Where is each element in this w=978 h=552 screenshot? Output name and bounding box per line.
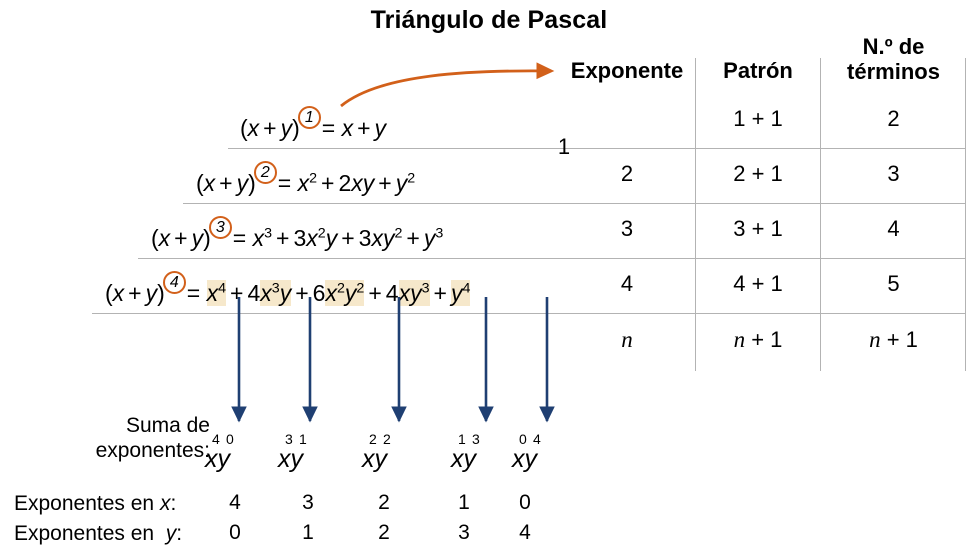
monomial-5-x-exponent: 0 bbox=[519, 431, 527, 447]
monomial-2-y-exponent: 1 bbox=[299, 431, 307, 447]
row-divider-2 bbox=[183, 203, 965, 204]
sum-label-line1: Suma de bbox=[20, 413, 210, 438]
monomial-term-3: 22xy bbox=[362, 445, 387, 474]
cell-terms-row2: 3 bbox=[822, 161, 965, 187]
x-exponent-value-3: 2 bbox=[364, 491, 404, 515]
monomial-4-y-exponent: 3 bbox=[472, 431, 480, 447]
cell-terms-row1: 2 bbox=[822, 106, 965, 132]
row-divider-3 bbox=[138, 258, 965, 259]
monomial-1-y-exponent: 0 bbox=[226, 431, 234, 447]
column-header-exponente: Exponente bbox=[561, 58, 693, 83]
x-exponent-value-5: 0 bbox=[505, 491, 545, 515]
sum-of-exponents-label: Suma de exponentes: bbox=[20, 413, 210, 463]
row-divider-4 bbox=[92, 313, 965, 314]
term-xy3: xy3 bbox=[399, 280, 430, 306]
term-y4: y4 bbox=[451, 280, 470, 306]
x-exponent-value-1: 4 bbox=[215, 491, 255, 515]
column-header-patron: Patrón bbox=[697, 58, 819, 83]
y-exponent-value-1: 0 bbox=[215, 521, 255, 545]
monomial-term-2: 31xy bbox=[278, 445, 303, 474]
exponents-in-x-label: Exponentes en x: bbox=[14, 491, 176, 516]
monomial-1-x-exponent: 4 bbox=[212, 431, 220, 447]
equation-power-2: (x+y)2= x2+2xy+y2 bbox=[196, 161, 415, 196]
circled-exponent-3: 3 bbox=[209, 216, 232, 239]
exponent-callout-arrow bbox=[341, 71, 551, 106]
cell-terms-row3: 4 bbox=[822, 216, 965, 242]
exponents-in-y-label: Exponentes en y: bbox=[14, 521, 182, 546]
column-header-terminos-line1: N.º de bbox=[822, 34, 965, 59]
cell-pattern-row3: 3 + 1 bbox=[697, 216, 819, 242]
y-exponent-value-4: 3 bbox=[444, 521, 484, 545]
cell-pattern-row4: 4 + 1 bbox=[697, 271, 819, 297]
column-divider-exponent-pattern bbox=[695, 58, 696, 371]
cell-terms-row4: 5 bbox=[822, 271, 965, 297]
pascal-triangle-figure: Triángulo de Pascal Exponente Patrón N.º… bbox=[0, 0, 978, 552]
circled-exponent-1: 1 bbox=[298, 106, 321, 129]
cell-pattern-row2: 2 + 1 bbox=[697, 161, 819, 187]
y-exponent-value-3: 2 bbox=[364, 521, 404, 545]
cell-exponent-row4: 4 bbox=[561, 271, 693, 297]
cell-exponent-row2: 2 bbox=[561, 161, 693, 187]
monomial-3-x-exponent: 2 bbox=[369, 431, 377, 447]
cell-terms-row5: n + 1 bbox=[822, 327, 965, 353]
circled-exponent-2: 2 bbox=[254, 161, 277, 184]
y-exponent-value-5: 4 bbox=[505, 521, 545, 545]
equation-power-3: (x+y)3= x3+3x2y+3xy2+y3 bbox=[151, 216, 443, 251]
column-divider-pattern-terms bbox=[820, 58, 821, 371]
column-header-terminos-line2: términos bbox=[822, 59, 965, 84]
monomial-5-y-exponent: 4 bbox=[533, 431, 541, 447]
cell-exponent-row3: 3 bbox=[561, 216, 693, 242]
term-x3y: x3y bbox=[260, 280, 291, 306]
x-exponent-value-2: 3 bbox=[288, 491, 328, 515]
monomial-3-y-exponent: 2 bbox=[383, 431, 391, 447]
monomial-term-5: 04xy bbox=[512, 445, 537, 474]
column-header-numero-terminos: N.º de términos bbox=[822, 34, 965, 84]
circled-exponent-4: 4 bbox=[163, 271, 186, 294]
page-title: Triángulo de Pascal bbox=[0, 6, 978, 35]
equation-power-4: (x+y)4= x4+4x3y+6x2y2+4xy3+y4 bbox=[105, 271, 470, 306]
term-x2y2: x2y2 bbox=[325, 280, 364, 306]
sum-label-line2: exponentes: bbox=[20, 438, 210, 463]
term-x4: x4 bbox=[207, 280, 226, 306]
table-right-border bbox=[965, 58, 966, 371]
y-exponent-value-2: 1 bbox=[288, 521, 328, 545]
monomial-term-4: 13xy bbox=[451, 445, 476, 474]
monomial-4-x-exponent: 1 bbox=[458, 431, 466, 447]
cell-pattern-row5: n + 1 bbox=[697, 327, 819, 353]
cell-pattern-row1: 1 + 1 bbox=[697, 106, 819, 132]
equation-power-1: (x+y)1= x+y bbox=[240, 106, 386, 141]
cell-exponent-row1: 1 bbox=[528, 134, 600, 160]
x-exponent-value-4: 1 bbox=[444, 491, 484, 515]
cell-exponent-row5: n bbox=[561, 327, 693, 353]
monomial-2-x-exponent: 3 bbox=[285, 431, 293, 447]
monomial-term-1: 40xy bbox=[205, 445, 230, 474]
